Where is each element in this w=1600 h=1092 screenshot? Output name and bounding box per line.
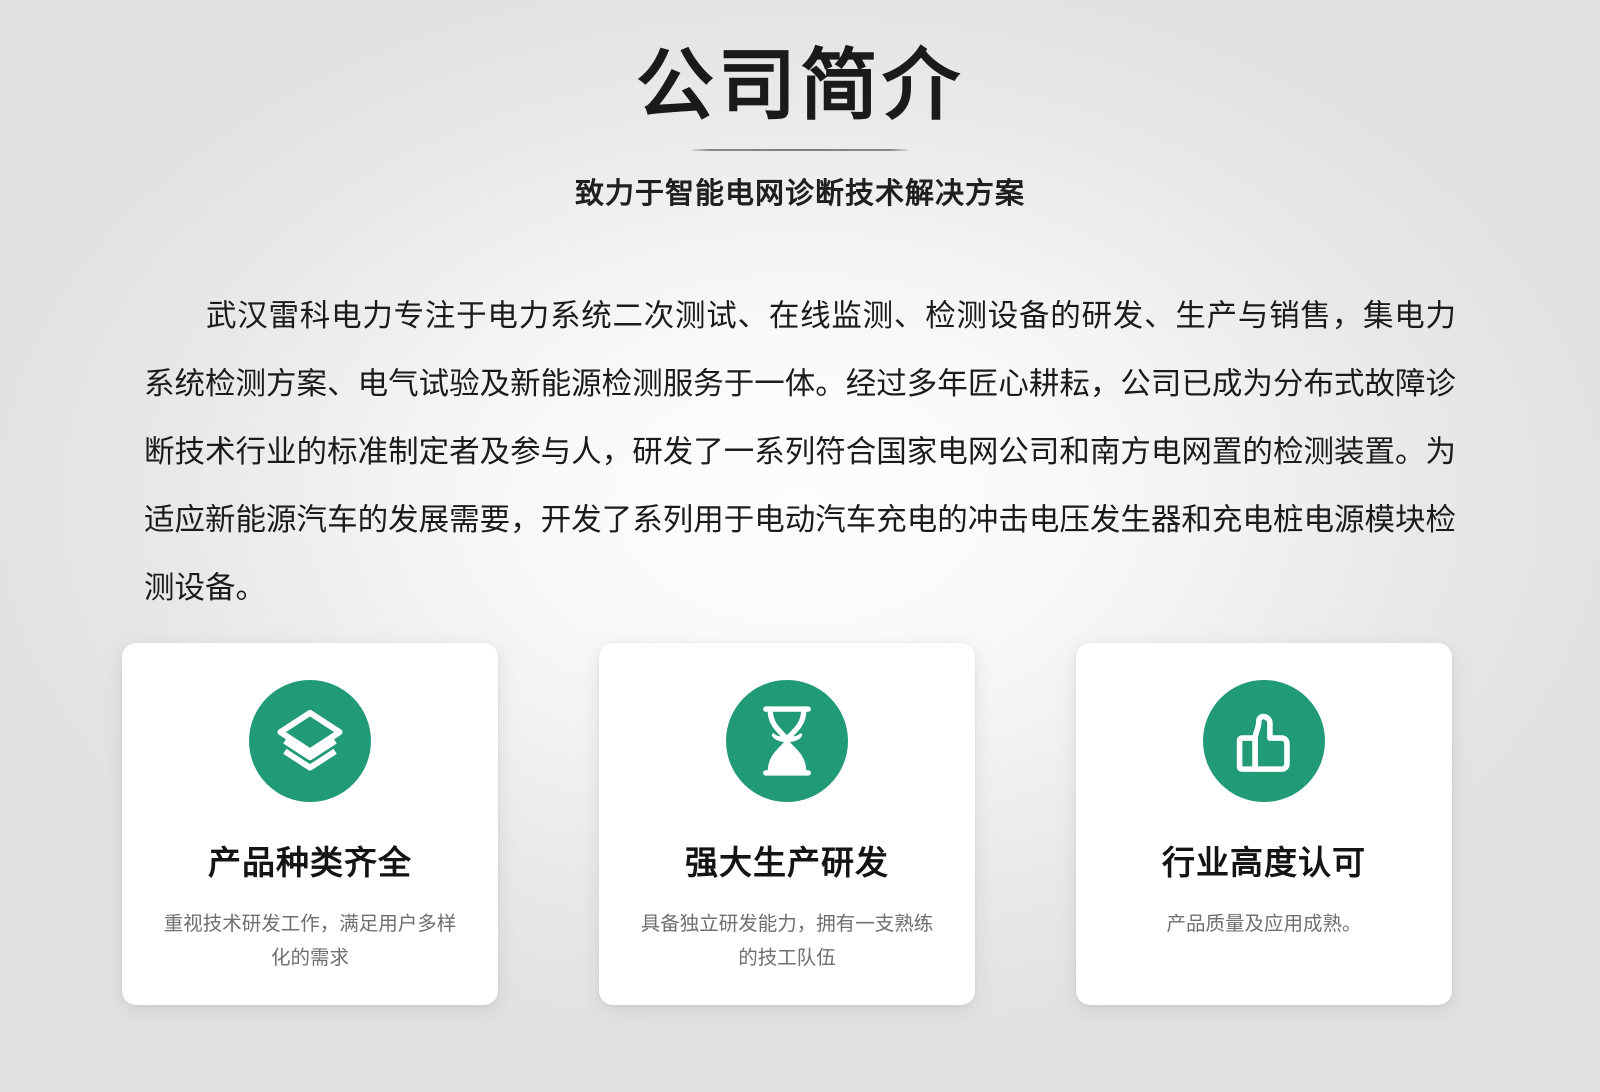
feature-card-description: 产品质量及应用成熟。 [1114, 884, 1414, 941]
layers-stack-icon [249, 680, 371, 802]
feature-card-list: 产品种类齐全 重视技术研发工作，满足用户多样化的需求 强大生产研发 具备独立研发… [122, 643, 1452, 1005]
hourglass-icon [726, 680, 848, 802]
page-title: 公司简介 [0, 0, 1600, 128]
feature-card-description: 具备独立研发能力，拥有一支熟练的技工队伍 [637, 884, 937, 975]
page-subtitle: 致力于智能电网诊断技术解决方案 [0, 151, 1600, 212]
feature-card-products[interactable]: 产品种类齐全 重视技术研发工作，满足用户多样化的需求 [122, 643, 498, 1005]
page-header: 公司简介 致力于智能电网诊断技术解决方案 [0, 0, 1600, 212]
feature-card-recognition[interactable]: 行业高度认可 产品质量及应用成熟。 [1076, 643, 1452, 1005]
company-intro-paragraph: 武汉雷科电力专注于电力系统二次测试、在线监测、检测设备的研发、生产与销售，集电力… [144, 283, 1456, 623]
feature-card-title: 行业高度认可 [1162, 802, 1366, 884]
feature-card-title: 产品种类齐全 [208, 802, 412, 884]
thumbs-up-icon [1203, 680, 1325, 802]
company-intro-page: 公司简介 致力于智能电网诊断技术解决方案 武汉雷科电力专注于电力系统二次测试、在… [0, 0, 1600, 1092]
feature-card-rnd[interactable]: 强大生产研发 具备独立研发能力，拥有一支熟练的技工队伍 [599, 643, 975, 1005]
feature-card-title: 强大生产研发 [685, 802, 889, 884]
feature-card-description: 重视技术研发工作，满足用户多样化的需求 [160, 884, 460, 975]
